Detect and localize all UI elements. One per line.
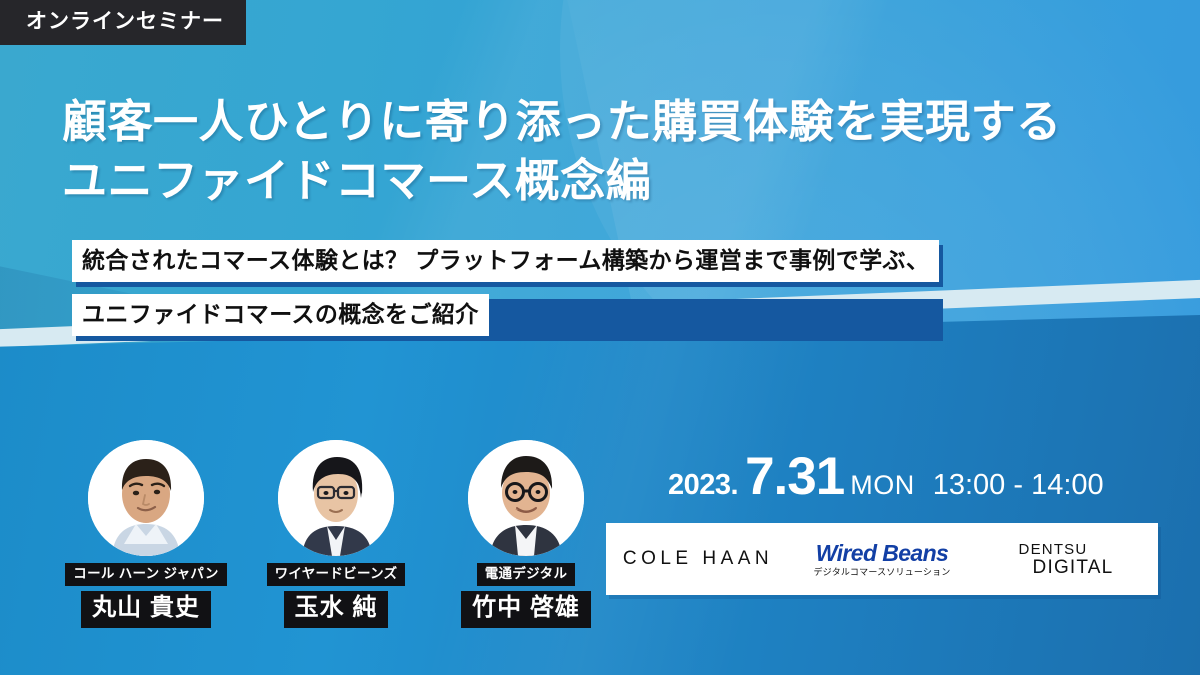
subtitle-row-2: ユニファイドコマースの概念をご紹介 bbox=[72, 294, 939, 336]
logo-dentsu-top: DENTSU bbox=[1019, 542, 1114, 557]
event-time: 13:00 - 14:00 bbox=[933, 469, 1104, 502]
partner-logo-panel: COLE HAAN Wired Beans デジタルコマースソリューション DE… bbox=[606, 523, 1158, 595]
avatar-tamamizu bbox=[278, 440, 394, 556]
speaker-company: 電通デジタル bbox=[477, 563, 576, 586]
speaker-card: コール ハーン ジャパン 丸山 貴史 bbox=[62, 440, 230, 628]
logo-dentsu-digital: DENTSU DIGITAL bbox=[974, 542, 1158, 577]
avatar-maruyama bbox=[88, 440, 204, 556]
speaker-name: 丸山 貴史 bbox=[81, 591, 211, 628]
speaker-company: ワイヤードビーンズ bbox=[267, 563, 406, 586]
subtitle-line-2: ユニファイドコマースの概念をご紹介 bbox=[72, 294, 489, 336]
logo-dentsu-bottom: DIGITAL bbox=[1033, 558, 1114, 577]
event-month-day: 7.31 bbox=[745, 450, 844, 503]
speaker-card: 電通デジタル 竹中 啓雄 bbox=[442, 440, 610, 628]
speaker-name: 竹中 啓雄 bbox=[461, 591, 591, 628]
logo-cole-haan-text: COLE HAAN bbox=[623, 548, 773, 570]
event-year: 2023. bbox=[668, 469, 738, 502]
seminar-type-badge: オンラインセミナー bbox=[0, 0, 246, 45]
speaker-list: コール ハーン ジャパン 丸山 貴史 bbox=[62, 440, 610, 628]
speaker-card: ワイヤードビーンズ 玉水 純 bbox=[252, 440, 420, 628]
speaker-name: 玉水 純 bbox=[284, 591, 389, 628]
title-line-2: ユニファイドコマース概念編 bbox=[62, 151, 1062, 210]
speaker-company: コール ハーン ジャパン bbox=[65, 563, 226, 586]
logo-wired-beans: Wired Beans デジタルコマースソリューション bbox=[790, 542, 974, 577]
page-title: 顧客一人ひとりに寄り添った購買体験を実現する ユニファイドコマース概念編 bbox=[62, 92, 1062, 211]
logo-dentsu-digital-text: DENTSU DIGITAL bbox=[1019, 542, 1114, 577]
subtitle: 統合されたコマース体験とは？ プラットフォーム構築から運営まで事例で学ぶ、 ユニ… bbox=[72, 240, 939, 348]
subtitle-line-1: 統合されたコマース体験とは？ プラットフォーム構築から運営まで事例で学ぶ、 bbox=[72, 240, 939, 282]
subtitle-row-1: 統合されたコマース体験とは？ プラットフォーム構築から運営まで事例で学ぶ、 bbox=[72, 240, 939, 282]
event-day-of-week: MON bbox=[850, 470, 915, 501]
logo-wired-beans-tagline: デジタルコマースソリューション bbox=[813, 568, 950, 577]
avatar-takenaka bbox=[468, 440, 584, 556]
event-datetime: 2023. 7.31 MON 13:00 - 14:00 bbox=[668, 450, 1104, 503]
title-line-1: 顧客一人ひとりに寄り添った購買体験を実現する bbox=[62, 92, 1062, 151]
webinar-banner: オンラインセミナー 顧客一人ひとりに寄り添った購買体験を実現する ユニファイドコ… bbox=[0, 0, 1200, 675]
logo-wired-beans-text: Wired Beans bbox=[816, 542, 949, 565]
logo-cole-haan: COLE HAAN bbox=[606, 548, 790, 570]
